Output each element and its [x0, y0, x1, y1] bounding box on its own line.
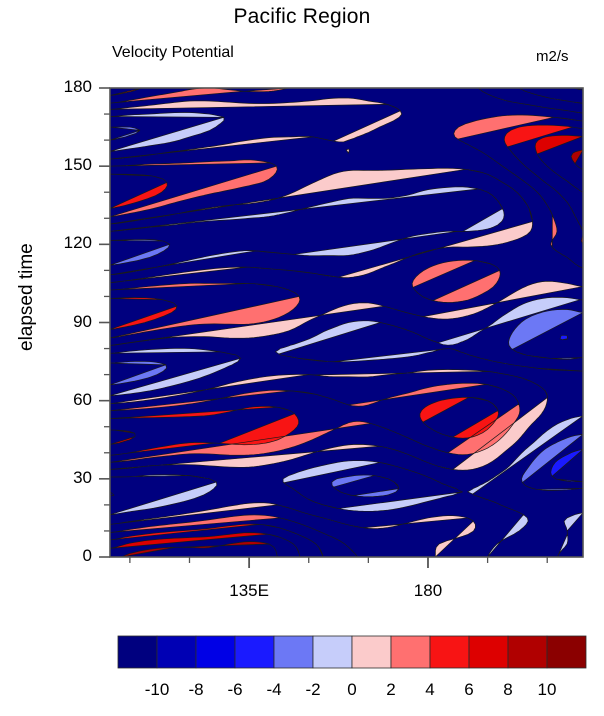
- y-tick-label: 90: [48, 312, 92, 332]
- colorbar-swatch: [391, 636, 430, 668]
- colorbar-tick-label: 6: [449, 680, 489, 700]
- colorbar-tick-label: 8: [488, 680, 528, 700]
- colorbar-tick-label: -8: [176, 680, 216, 700]
- colorbar-swatch: [469, 636, 508, 668]
- contour-plot: [0, 0, 604, 716]
- colorbar-tick-label: -10: [137, 680, 177, 700]
- y-tick-label: 120: [48, 233, 92, 253]
- colorbar-swatch: [430, 636, 469, 668]
- colorbar-tick-label: 4: [410, 680, 450, 700]
- colorbar-swatch: [352, 636, 391, 668]
- colorbar-swatch: [196, 636, 235, 668]
- y-tick-label: 60: [48, 390, 92, 410]
- colorbar-tick-label: 0: [332, 680, 372, 700]
- y-tick-label: 150: [48, 155, 92, 175]
- colorbar-swatch: [118, 636, 157, 668]
- colorbar-swatch: [547, 636, 586, 668]
- x-tick-label: 180: [388, 581, 468, 601]
- colorbar-tick-label: -4: [254, 680, 294, 700]
- colorbar-swatch: [235, 636, 274, 668]
- colorbar-swatch: [157, 636, 196, 668]
- y-axis-label: elapsed time: [16, 251, 38, 351]
- velocity-potential-figure: Pacific Region Velocity Potential m2/s e…: [0, 0, 604, 716]
- colorbar-swatch: [313, 636, 352, 668]
- colorbar-tick-label: 10: [527, 680, 567, 700]
- y-tick-label: 0: [48, 546, 92, 566]
- units-label: m2/s: [536, 48, 569, 65]
- colorbar-swatch: [274, 636, 313, 668]
- colorbar-tick-label: -2: [293, 680, 333, 700]
- page-title: Pacific Region: [0, 5, 604, 29]
- colorbar-swatch: [508, 636, 547, 668]
- colorbar-tick-label: -6: [215, 680, 255, 700]
- colorbar-tick-label: 2: [371, 680, 411, 700]
- colorbar: [118, 636, 586, 668]
- x-tick-label: 135E: [209, 581, 289, 601]
- y-tick-label: 30: [48, 468, 92, 488]
- y-tick-label: 180: [48, 77, 92, 97]
- plot-subtitle: Velocity Potential: [112, 44, 234, 62]
